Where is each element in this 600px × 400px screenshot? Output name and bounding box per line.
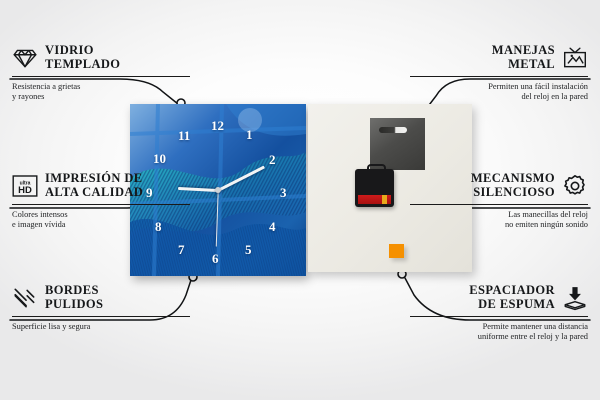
feature-desc: y rayones (12, 92, 190, 102)
divider (410, 76, 588, 77)
feature-title: MANEJAS (492, 44, 555, 58)
feature-title: ALTA CALIDAD (45, 186, 143, 200)
clock-numeral: 6 (212, 252, 219, 265)
divider (12, 204, 190, 205)
gear-icon (562, 173, 588, 199)
divider (12, 316, 190, 317)
divider (410, 204, 588, 205)
battery-terminal (382, 195, 387, 204)
feature-vidrio-templado: VIDRIO TEMPLADO Resistencia a grietas y … (12, 44, 190, 103)
clock-numeral: 10 (153, 152, 166, 165)
feature-title: IMPRESIÓN DE (45, 172, 143, 186)
clock-numeral: 5 (245, 243, 252, 256)
diamond-icon (12, 45, 38, 71)
foam-spacer-icon (562, 285, 588, 311)
movement-hanger-lug (367, 164, 386, 173)
feature-impresion-alta-calidad: ultra HD IMPRESIÓN DE ALTA CALIDAD Color… (12, 172, 190, 231)
feature-desc: no emiten ningún sonido (410, 220, 588, 230)
ultra-hd-icon: ultra HD (12, 173, 38, 199)
feature-title: PULIDOS (45, 298, 103, 312)
feature-title: TEMPLADO (45, 58, 120, 72)
feature-title: SILENCIOSO (471, 186, 555, 200)
metal-hanger-plate (370, 118, 425, 170)
feature-bordes-pulidos: BORDES PULIDOS Superficie lisa y segura (12, 284, 190, 332)
hanger-keyhole-slot (379, 127, 407, 133)
feature-desc: uniforme entre el reloj y la pared (410, 332, 588, 342)
clock-numeral: 7 (178, 243, 185, 256)
battery-compartment (358, 195, 391, 204)
clock-numeral: 1 (246, 128, 253, 141)
clock-center-cap (215, 187, 221, 193)
feature-desc: Colores intensos (12, 210, 190, 220)
quartz-movement-box (355, 169, 394, 207)
foam-spacer-pad (389, 244, 404, 258)
divider (410, 316, 588, 317)
feature-desc: Superficie lisa y segura (12, 322, 190, 332)
feature-desc: Las manecillas del reloj (410, 210, 588, 220)
picture-hanger-icon (562, 45, 588, 71)
feature-title: ESPACIADOR (469, 284, 555, 298)
svg-text:HD: HD (18, 185, 32, 196)
clock-numeral: 2 (269, 153, 276, 166)
feature-mecanismo-silencioso: MECANISMO SILENCIOSO Las manecillas del … (410, 172, 588, 231)
feature-title: METAL (492, 58, 555, 72)
feature-title: DE ESPUMA (469, 298, 555, 312)
infographic-canvas: 12 1 2 3 4 5 6 7 8 9 10 11 (0, 0, 600, 400)
feature-title: VIDRIO (45, 44, 120, 58)
clock-numeral: 3 (280, 186, 287, 199)
feature-title: MECANISMO (471, 172, 555, 186)
feature-title: BORDES (45, 284, 103, 298)
clock-numeral: 11 (178, 129, 190, 142)
feature-desc: e imagen vívida (12, 220, 190, 230)
feature-manejas-metal: MANEJAS METAL Permiten una fácil instala… (410, 44, 588, 103)
feature-desc: Permiten una fácil instalación (410, 82, 588, 92)
divider (12, 76, 190, 77)
feature-desc: del reloj en la pared (410, 92, 588, 102)
feature-desc: Permite mantener una distancia (410, 322, 588, 332)
polished-edges-icon (12, 285, 38, 311)
feature-desc: Resistencia a grietas (12, 82, 190, 92)
clock-numeral: 4 (269, 220, 276, 233)
clock-numeral: 12 (211, 119, 224, 132)
feature-espaciador-espuma: ESPACIADOR DE ESPUMA Permite mantener un… (410, 284, 588, 343)
